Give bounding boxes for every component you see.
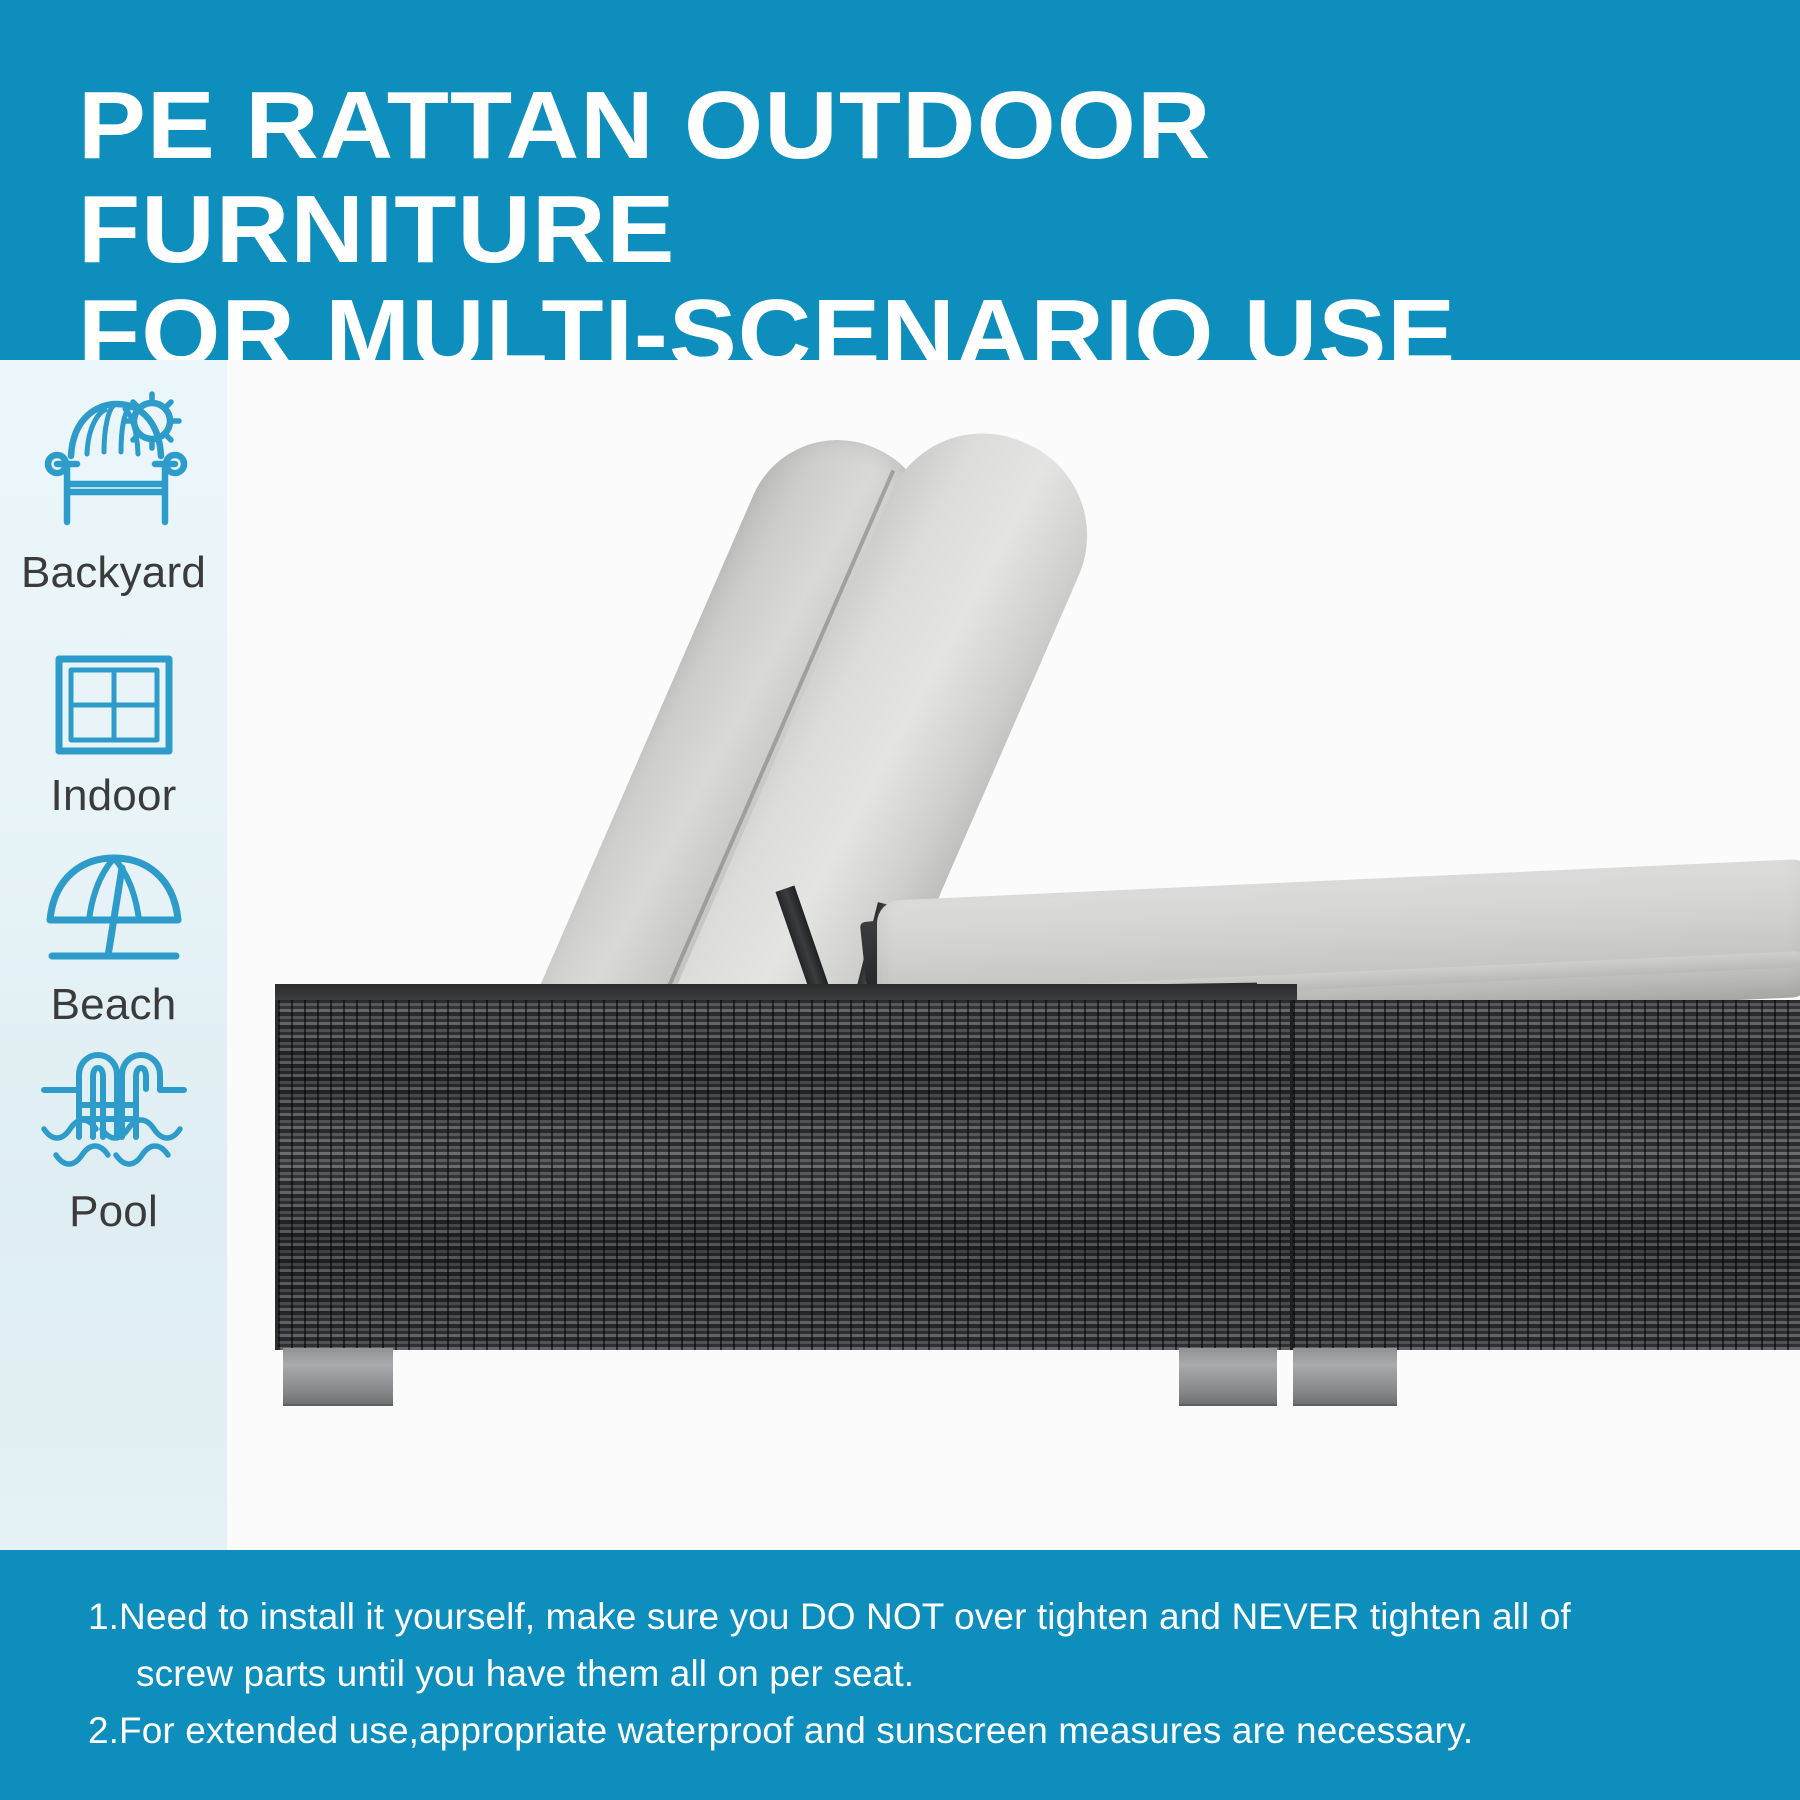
instruction-line-2: 2.For extended use,appropriate waterproo… [88, 1702, 1728, 1759]
footer-notes: 1.Need to install it yourself, make sure… [0, 1550, 1800, 1800]
sidebar-label-indoor: Indoor [51, 770, 177, 822]
page-title: PE RATTAN OUTDOOR FURNITURE FOR MULTI-SC… [78, 74, 1800, 386]
base-panel-seam [1290, 1000, 1293, 1350]
sidebar-item-pool[interactable]: Pool [0, 1049, 227, 1238]
foot-center [1179, 1348, 1277, 1406]
header-banner: PE RATTAN OUTDOOR FURNITURE FOR MULTI-SC… [0, 0, 1800, 360]
window-icon [54, 653, 174, 766]
instruction-line-1: 1.Need to install it yourself, make sure… [88, 1588, 1728, 1645]
sidebar-item-beach[interactable]: Beach [0, 852, 227, 1031]
sidebar-label-backyard: Backyard [21, 547, 206, 599]
content-area: Backyard Indoor [0, 360, 1800, 1550]
sidebar-item-indoor[interactable]: Indoor [0, 653, 227, 822]
foot-front-left [283, 1348, 393, 1406]
base-left-section [275, 1000, 1295, 1350]
product-photo [227, 360, 1800, 1550]
sidebar-label-pool: Pool [69, 1186, 158, 1238]
sidebar-item-backyard[interactable]: Backyard [0, 388, 227, 599]
adirondack-chair-sun-icon [39, 388, 189, 543]
instruction-list: 1.Need to install it yourself, make sure… [88, 1588, 1728, 1759]
pool-ladder-waves-icon [38, 1049, 190, 1182]
base-right-section [1293, 1000, 1800, 1350]
scenario-sidebar: Backyard Indoor [0, 360, 227, 1550]
beach-umbrella-icon [42, 852, 186, 975]
foot-rear [1293, 1348, 1397, 1406]
instruction-line-1-cont: screw parts until you have them all on p… [88, 1645, 1728, 1702]
sidebar-label-beach: Beach [51, 979, 177, 1031]
